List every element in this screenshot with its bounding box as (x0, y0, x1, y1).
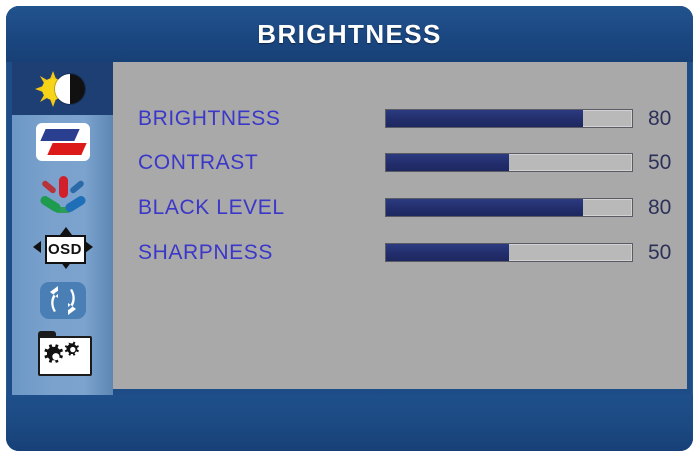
rgb-tri-bars-icon (33, 174, 93, 216)
menu-row-black-level[interactable]: BLACK LEVEL 80 (113, 193, 687, 223)
value-black-level: 80 (648, 196, 671, 220)
arrow-up-icon (60, 227, 72, 235)
slider-fill-sharpness (386, 244, 509, 261)
green-bar-icon (38, 194, 61, 213)
sidebar-item-rgb-adjust[interactable] (12, 168, 113, 221)
sidebar-item-osd-settings[interactable]: OSD (12, 221, 113, 274)
gears-icon (40, 338, 86, 370)
red-bar-icon (59, 176, 68, 198)
menu-label-black-level: BLACK LEVEL (138, 196, 285, 220)
menu-row-contrast[interactable]: CONTRAST 50 (113, 148, 687, 178)
settings-folder-gears-icon (33, 333, 93, 375)
slider-fill-black-level (386, 199, 583, 216)
arrow-right-icon (85, 241, 93, 253)
menu-label-contrast: CONTRAST (138, 151, 258, 175)
menu-row-brightness[interactable]: BRIGHTNESS 80 (113, 104, 687, 134)
osd-position-icon: OSD (33, 227, 93, 269)
half-moon-disc-icon (55, 74, 85, 104)
value-brightness: 80 (648, 107, 671, 131)
osd-root: BRIGHTNESS (0, 0, 699, 457)
menu-row-sharpness[interactable]: SHARPNESS 50 (113, 238, 687, 268)
reset-circular-arrows-icon (33, 280, 93, 322)
osd-title-bar: BRIGHTNESS (6, 6, 693, 62)
value-sharpness: 50 (648, 241, 671, 265)
brightness-sun-moon-icon (33, 68, 93, 110)
slider-contrast[interactable] (385, 153, 633, 172)
sidebar-item-brightness[interactable] (12, 62, 113, 115)
slider-black-level[interactable] (385, 198, 633, 217)
slider-brightness[interactable] (385, 109, 633, 128)
osd-body: OSD (6, 62, 693, 395)
sidebar-item-setup[interactable] (12, 327, 113, 380)
blue-bar-icon (63, 194, 86, 213)
blue-parallelogram-icon (40, 129, 79, 141)
sidebar-item-reset[interactable] (12, 274, 113, 327)
page-title: BRIGHTNESS (257, 19, 441, 50)
sidebar: OSD (12, 62, 113, 395)
arrow-left-icon (33, 241, 41, 253)
sidebar-item-color[interactable] (12, 115, 113, 168)
menu-label-brightness: BRIGHTNESS (138, 107, 281, 131)
slider-sharpness[interactable] (385, 243, 633, 262)
value-contrast: 50 (648, 151, 671, 175)
slider-fill-brightness (386, 110, 583, 127)
osd-icon-label: OSD (48, 241, 82, 258)
red-parallelogram-icon (47, 143, 86, 155)
osd-footer-bar (6, 395, 693, 451)
osd-window: BRIGHTNESS (6, 6, 693, 451)
slider-fill-contrast (386, 154, 509, 171)
menu-content-panel: BRIGHTNESS 80 CONTRAST 50 BLACK LEVEL (113, 62, 687, 389)
menu-label-sharpness: SHARPNESS (138, 241, 273, 265)
color-parallelograms-icon (33, 121, 93, 163)
